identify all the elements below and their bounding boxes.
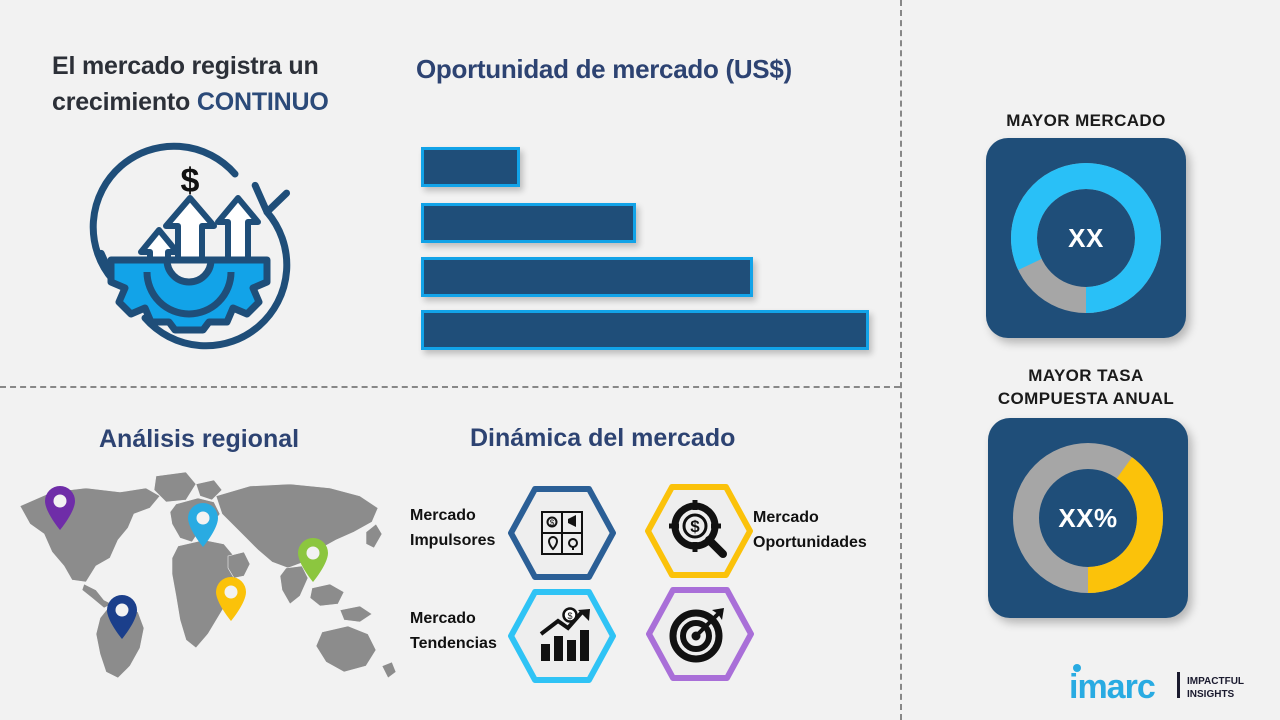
bar-row: [421, 203, 636, 243]
label-market-trends: Mercado Tendencias: [410, 607, 497, 657]
label-market-drivers: Mercado Impulsores: [410, 504, 495, 554]
logo-wordmark: imarc: [1069, 668, 1155, 706]
svg-text:$: $: [550, 519, 555, 528]
donut-chart-mayor-mercado: [986, 138, 1186, 338]
horizontal-divider: [0, 386, 900, 388]
world-map: [0, 462, 400, 687]
label-cagr-line2: COMPUESTA ANUAL: [998, 389, 1174, 408]
imarc-logo: imarc IMPACTFUL INSIGHTS: [1065, 660, 1255, 706]
pin-africa: [216, 577, 246, 621]
label-drivers-line1: Mercado: [410, 507, 476, 524]
hex-market-challenges[interactable]: [646, 586, 754, 682]
label-market-opportunities: Mercado Oportunidades: [753, 506, 867, 556]
label-opportunities-line2: Oportunidades: [753, 531, 867, 556]
label-cagr-line1: MAYOR TASA: [1028, 366, 1143, 385]
logo-tagline-line1: IMPACTFUL: [1187, 676, 1244, 687]
logo-tagline-line2: INSIGHTS: [1187, 689, 1235, 700]
heading-regional-analysis: Análisis regional: [99, 425, 299, 454]
label-trends-line1: Mercado: [410, 610, 476, 627]
heading-market-opportunity: Oportunidad de mercado (US$): [416, 54, 792, 85]
bar-row: [421, 310, 869, 350]
donut-card-mayor-tasa: XX%: [988, 418, 1188, 618]
heading-market-growth: El mercado registra un crecimiento CONTI…: [52, 48, 392, 121]
logo-divider: [1177, 672, 1180, 698]
svg-text:$: $: [181, 162, 200, 200]
vertical-divider: [900, 0, 902, 720]
label-mayor-tasa-compuesta-anual: MAYOR TASA COMPUESTA ANUAL: [936, 365, 1236, 411]
heading-growth-line1: El mercado registra un: [52, 52, 319, 80]
svg-text:$: $: [567, 611, 572, 621]
market-opportunity-bar-chart: [421, 147, 881, 357]
donut-card-mayor-mercado: XX: [986, 138, 1186, 338]
target-dart-icon: [673, 608, 724, 659]
label-mayor-mercado: MAYOR MERCADO: [936, 110, 1236, 133]
heading-growth-line2: crecimiento: [52, 88, 197, 116]
svg-text:$: $: [690, 517, 700, 536]
bar-row: [421, 147, 520, 187]
label-trends-line2: Tendencias: [410, 632, 497, 657]
hex-market-trends[interactable]: $: [508, 588, 616, 684]
label-drivers-line2: Impulsores: [410, 529, 495, 554]
heading-growth-accent: CONTINUO: [197, 88, 329, 116]
gear-growth-arrows-icon: $: [75, 130, 305, 360]
bar-row: [421, 257, 753, 297]
heading-market-dynamics: Dinámica del mercado: [470, 424, 735, 453]
hex-market-opportunities[interactable]: $: [645, 483, 753, 579]
label-opportunities-line1: Mercado: [753, 509, 819, 526]
donut-chart-mayor-tasa: [988, 418, 1188, 618]
hex-market-drivers[interactable]: $: [508, 485, 616, 581]
infographic-canvas: El mercado registra un crecimiento CONTI…: [0, 0, 1280, 720]
